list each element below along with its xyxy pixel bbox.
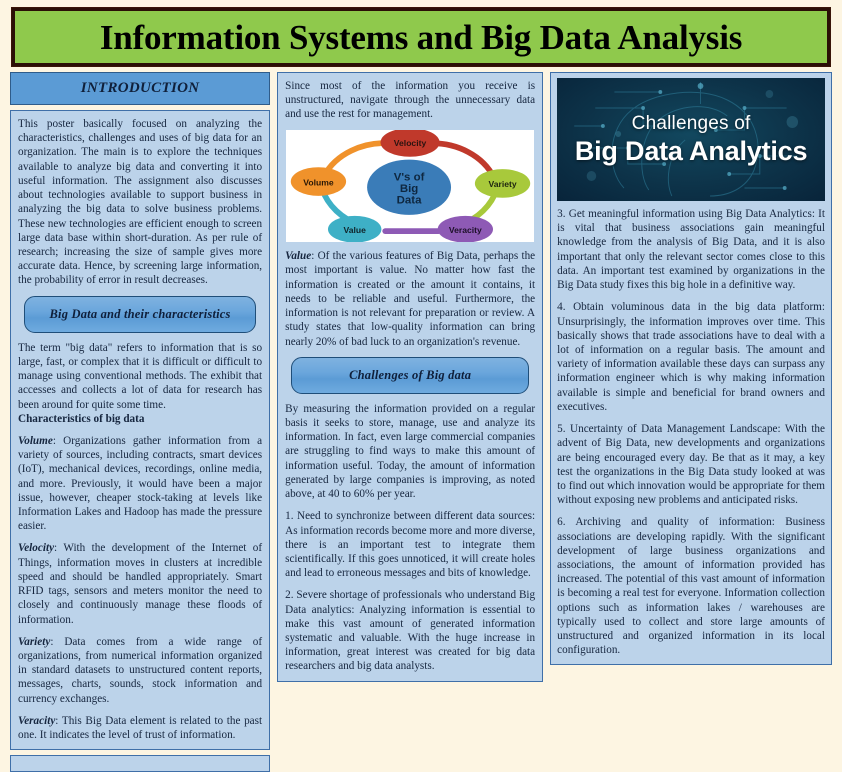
characteristic-veracity: Veracity: This Big Data element is relat… (18, 714, 262, 742)
svg-text:Volume: Volume (303, 177, 334, 187)
characteristics-subhead: Characteristics of big data (18, 413, 144, 425)
value-text: : Of the various features of Big Data, p… (285, 250, 535, 347)
hero-image-big-data-analytics: Challenges of Big Data Analytics (557, 78, 825, 201)
challenge-item-2: 2. Severe shortage of professionals who … (285, 588, 535, 673)
definition-text: The term "big data" refers to informatio… (18, 342, 262, 411)
pill-header-big-data-characteristics: Big Data and their characteristics (24, 296, 256, 333)
challenge-item-4: 4. Obtain voluminous data in the big dat… (557, 300, 825, 414)
value-paragraph: Value: Of the various features of Big Da… (285, 249, 535, 349)
intro-paragraph: This poster basically focused on analyzi… (18, 117, 262, 288)
section-header-introduction: INTRODUCTION (10, 72, 270, 105)
characteristic-volume: Volume: Organizations gather information… (18, 434, 262, 534)
characteristic-velocity: Velocity: With the development of the In… (18, 541, 262, 626)
poster-title-banner: Information Systems and Big Data Analysi… (12, 8, 830, 66)
svg-text:Velocity: Velocity (394, 138, 427, 148)
characteristic-volume-term: Volume (18, 435, 53, 447)
svg-text:Variety: Variety (489, 179, 517, 189)
poster-root: Information Systems and Big Data Analysi… (0, 0, 842, 596)
right-column: Challenges of Big Data Analytics 3. Get … (550, 72, 832, 665)
characteristic-velocity-term: Velocity (18, 542, 54, 554)
characteristic-veracity-text: : This Big Data element is related to th… (18, 715, 262, 741)
page-title: Information Systems and Big Data Analysi… (100, 20, 742, 55)
characteristic-velocity-text: : With the development of the Internet o… (18, 542, 262, 625)
svg-text:Veracity: Veracity (449, 225, 482, 235)
poster-columns: INTRODUCTION This poster basically focus… (6, 72, 836, 600)
hero-title: Challenges of Big Data Analytics (557, 78, 825, 201)
vs-of-big-data-figure: V's of Big Data Velocity Variety Veracit… (286, 130, 534, 243)
svg-text:Data: Data (397, 194, 422, 206)
pill-header-challenges-of-big-data-label: Challenges of Big data (349, 368, 471, 383)
challenge-item-6: 6. Archiving and quality of information:… (557, 515, 825, 657)
section-header-introduction-label: INTRODUCTION (81, 80, 200, 97)
left-column: INTRODUCTION This poster basically focus… (10, 72, 270, 772)
characteristic-variety-term: Variety (18, 636, 50, 648)
middle-column-panel: Since most of the information you receiv… (277, 72, 543, 682)
middle-intro-paragraph: Since most of the information you receiv… (285, 79, 535, 122)
challenges-intro-paragraph: By measuring the information provided on… (285, 402, 535, 502)
challenge-item-1: 1. Need to synchronize between different… (285, 509, 535, 580)
pill-header-big-data-characteristics-label: Big Data and their characteristics (49, 307, 230, 322)
definition-paragraph: The term "big data" refers to informatio… (18, 341, 262, 426)
pill-header-challenges-of-big-data: Challenges of Big data (291, 357, 529, 394)
middle-column: Since most of the information you receiv… (277, 72, 543, 682)
vs-of-big-data-diagram: V's of Big Data Velocity Variety Veracit… (286, 130, 534, 243)
svg-text:Value: Value (344, 225, 367, 235)
hero-title-line2: Big Data Analytics (575, 136, 807, 167)
characteristic-variety: Variety: Data comes from a wide range of… (18, 635, 262, 706)
characteristic-variety-text: : Data comes from a wide range of organi… (18, 636, 262, 705)
value-term: Value (285, 250, 311, 262)
characteristic-volume-text: : Organizations gather information from … (18, 435, 262, 532)
right-column-panel: Challenges of Big Data Analytics 3. Get … (550, 72, 832, 665)
characteristic-veracity-term: Veracity (18, 715, 55, 727)
svg-text:Big: Big (400, 183, 418, 195)
svg-text:V's of: V's of (394, 171, 425, 183)
challenge-item-5: 5. Uncertainty of Data Management Landsc… (557, 422, 825, 507)
challenge-item-3: 3. Get meaningful information using Big … (557, 207, 825, 292)
hero-title-line1: Challenges of (632, 113, 751, 135)
left-column-panel: This poster basically focused on analyzi… (10, 110, 270, 750)
left-column-footer-panel (10, 755, 270, 772)
